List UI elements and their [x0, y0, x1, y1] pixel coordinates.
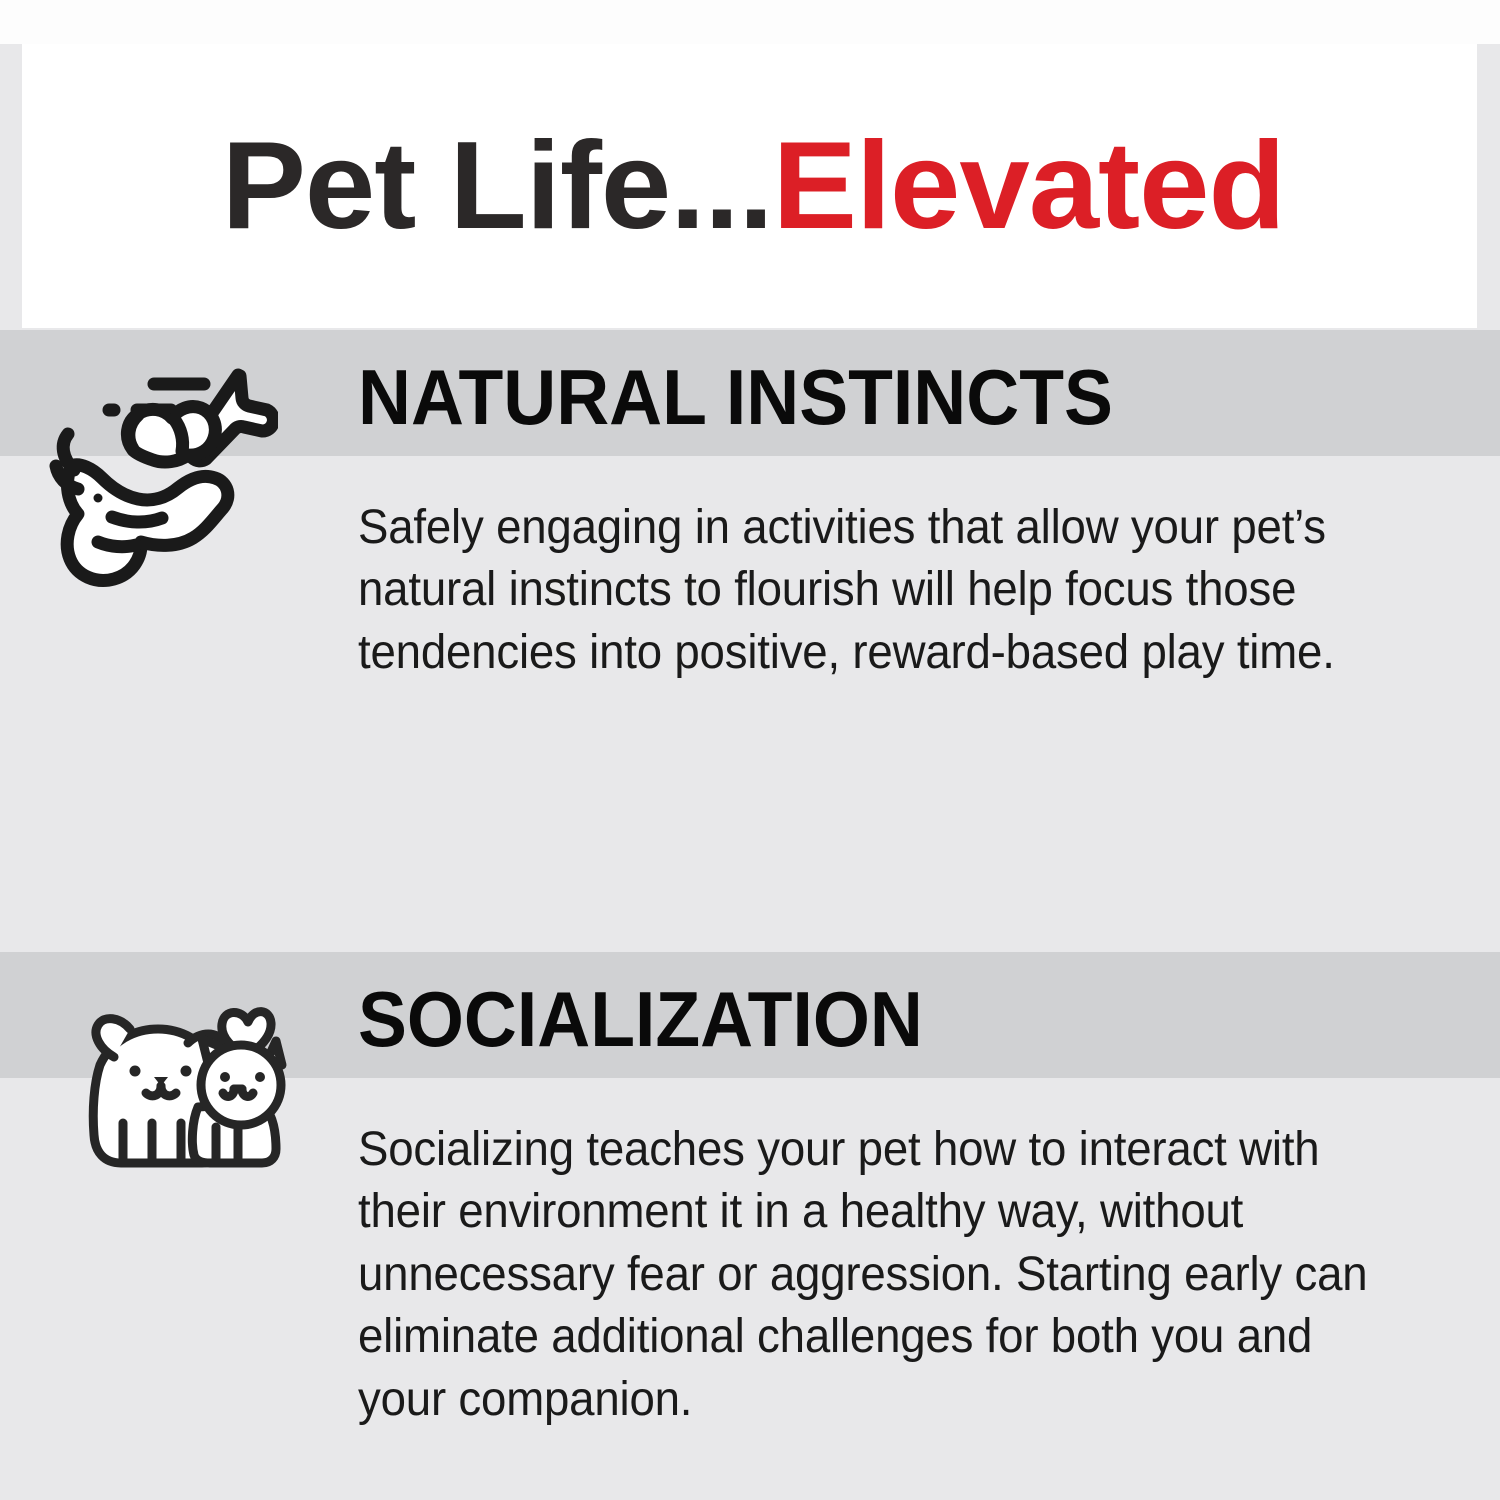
page-title: Pet Life...Elevated — [222, 124, 1285, 248]
header-card: Pet Life...Elevated — [22, 44, 1477, 328]
section-body-natural-instincts: Safely engaging in activities that allow… — [358, 497, 1413, 684]
section-heading-socialization: SOCIALIZATION — [358, 980, 923, 1058]
page-title-primary: Pet Life... — [222, 117, 773, 255]
section-body-socialization: Socializing teaches your pet how to inte… — [358, 1119, 1413, 1431]
top-gutter — [0, 0, 1500, 44]
page-title-accent: Elevated — [773, 117, 1285, 255]
dog-and-cat-with-heart-icon — [66, 985, 306, 1180]
jumping-dog-with-stick-icon — [38, 358, 278, 608]
infographic-page: Pet Life...Elevated — [0, 0, 1500, 1500]
section-heading-natural-instincts: NATURAL INSTINCTS — [358, 358, 1113, 436]
